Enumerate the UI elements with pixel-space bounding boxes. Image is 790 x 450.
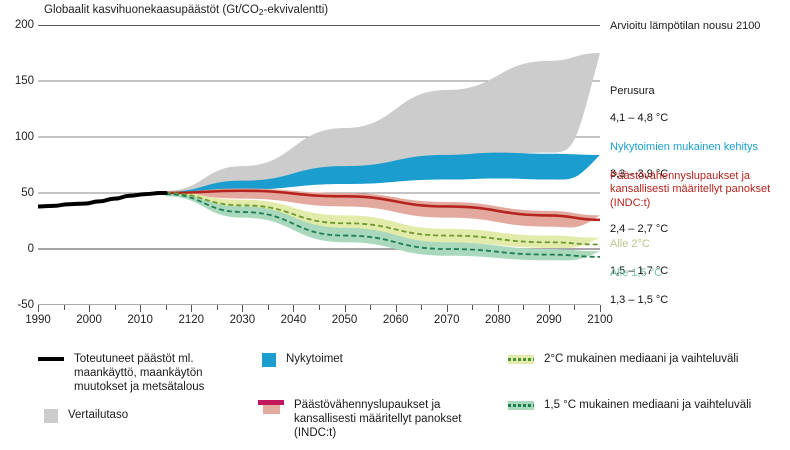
chart-title: Globaalit kasvihuonekaasupäästöt (Gt/CO2… xyxy=(44,4,328,16)
legend-item-indc: Päästövähennyslupaukset ja kansallisesti… xyxy=(258,398,461,440)
x-axis-minor-tick xyxy=(472,305,473,310)
legend-label-current-policies: Nykytoimet xyxy=(286,352,343,366)
annotation-under2-label: Alle 2°C xyxy=(610,238,668,251)
x-axis-tick xyxy=(447,305,448,312)
legend-label-indc: Päästövähennyslupaukset ja kansallisesti… xyxy=(294,398,461,440)
x-axis-label: 2010 xyxy=(127,314,153,326)
stack-swatch-icon xyxy=(258,400,284,414)
x-axis-tick xyxy=(89,305,90,312)
plot-area xyxy=(38,25,600,305)
x-axis-tick xyxy=(140,305,141,312)
y-axis-label: 150 xyxy=(0,75,34,87)
x-axis-label: 2070 xyxy=(434,314,460,326)
x-axis-tick xyxy=(345,305,346,312)
x-axis-minor-tick xyxy=(115,305,116,310)
x-axis: 1990200020102120203020402050206020702080… xyxy=(38,305,600,333)
x-axis-minor-tick xyxy=(319,305,320,310)
annotation-baseline-range: 4,1 – 4,8 °C xyxy=(610,112,668,125)
y-axis-label: 0 xyxy=(0,243,34,255)
x-axis-label: 2000 xyxy=(76,314,102,326)
x-axis-tick xyxy=(293,305,294,312)
x-axis-minor-tick xyxy=(574,305,575,310)
legend-label-baseline: Vertailutaso xyxy=(68,408,128,422)
y-axis-label: 100 xyxy=(0,131,34,143)
x-axis-tick xyxy=(498,305,499,312)
legend-label-historical: Toteutuneet päästöt ml. maankäyttö, maan… xyxy=(74,352,204,394)
x-axis-minor-tick xyxy=(64,305,65,310)
annotation-baseline-label: Perusura xyxy=(610,85,668,98)
chart-canvas xyxy=(38,25,600,305)
x-axis-label: 2060 xyxy=(383,314,409,326)
annotation-indc-label: Päästövähennyslupaukset ja kansallisesti… xyxy=(610,170,770,210)
y-axis-label: 200 xyxy=(0,19,34,31)
legend-item-under-1-5c: 1,5 °C mukainen mediaani ja vaihteluväli xyxy=(508,398,751,412)
band-swatch-icon xyxy=(508,401,534,410)
historical-emissions-line xyxy=(38,193,166,206)
x-axis-tick xyxy=(191,305,192,312)
annotation-current-label: Nykytoimien mukainen kehitys xyxy=(610,141,758,154)
x-axis-tick xyxy=(38,305,39,312)
x-axis-label: 2080 xyxy=(485,314,511,326)
y-axis-label: -50 xyxy=(0,299,34,311)
legend-label-under-1-5c: 1,5 °C mukainen mediaani ja vaihteluväli xyxy=(544,398,751,412)
x-axis-label: 2030 xyxy=(230,314,256,326)
x-axis-label: 2100 xyxy=(587,314,613,326)
box-swatch-icon xyxy=(262,353,276,367)
x-axis-minor-tick xyxy=(217,305,218,310)
x-axis-label: 2120 xyxy=(178,314,204,326)
x-axis-tick xyxy=(600,305,601,312)
annotation-under15: Alle 1,5 °C 1,3 – 1,5 °C xyxy=(610,254,668,320)
legend-item-historical: Toteutuneet päästöt ml. maankäyttö, maan… xyxy=(38,352,204,394)
line-swatch-icon xyxy=(38,357,64,361)
legend-item-under-2c: 2°C mukainen mediaani ja vaihteluväli xyxy=(508,352,738,366)
legend-item-current-policies: Nykytoimet xyxy=(262,352,343,367)
chart-legend: Toteutuneet päästöt ml. maankäyttö, maan… xyxy=(0,338,790,450)
x-axis-tick xyxy=(396,305,397,312)
x-axis-label: 1990 xyxy=(25,314,51,326)
x-axis-minor-tick xyxy=(421,305,422,310)
x-axis-label: 2040 xyxy=(281,314,307,326)
chart-page: Globaalit kasvihuonekaasupäästöt (Gt/CO2… xyxy=(0,0,790,450)
chart-title-subscript: 2 xyxy=(259,7,264,17)
x-axis-label: 2090 xyxy=(536,314,562,326)
chart-title-end: -ekvivalentti) xyxy=(264,4,329,16)
y-axis: 200150100500-50 xyxy=(0,25,34,305)
x-axis-label: 2050 xyxy=(332,314,358,326)
legend-label-under-2c: 2°C mukainen mediaani ja vaihteluväli xyxy=(544,352,738,366)
x-axis-tick xyxy=(549,305,550,312)
annotation-under15-range: 1,3 – 1,5 °C xyxy=(610,294,668,307)
x-axis-minor-tick xyxy=(370,305,371,310)
annotation-header: Arvioitu lämpötilan nousu 2100 xyxy=(610,20,760,33)
x-axis-minor-tick xyxy=(523,305,524,310)
band-swatch-icon xyxy=(508,355,534,364)
legend-item-baseline: Vertailutaso xyxy=(44,408,128,423)
box-swatch-icon xyxy=(44,409,58,423)
x-axis-minor-tick xyxy=(166,305,167,310)
x-axis-minor-tick xyxy=(268,305,269,310)
annotation-under15-label: Alle 1,5 °C xyxy=(610,267,668,280)
x-axis-tick xyxy=(242,305,243,312)
chart-title-main: Globaalit kasvihuonekaasupäästöt (Gt/CO xyxy=(44,4,259,16)
y-axis-label: 50 xyxy=(0,187,34,199)
